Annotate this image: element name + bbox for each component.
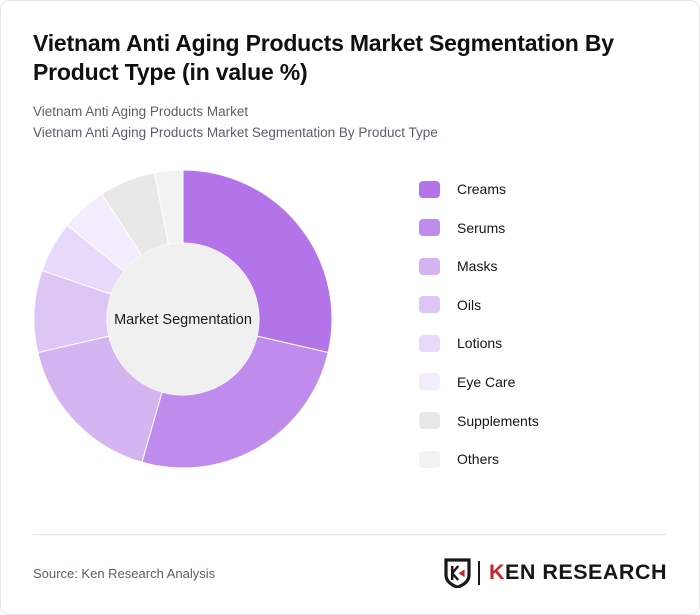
chart-legend: CreamsSerumsMasksOilsLotionsEye CareSupp… — [419, 170, 669, 479]
legend-swatch-serums — [419, 219, 440, 236]
legend-swatch-others — [419, 451, 440, 468]
chart-card: Vietnam Anti Aging Products Market Segme… — [0, 0, 700, 615]
subtitle-line-2: Vietnam Anti Aging Products Market Segme… — [33, 123, 667, 144]
legend-swatch-oils — [419, 296, 440, 313]
legend-item-oils[interactable]: Oils — [419, 286, 669, 325]
legend-label-serums: Serums — [457, 220, 505, 236]
legend-swatch-masks — [419, 258, 440, 275]
logo-word-accent: K — [489, 562, 505, 584]
page-title: Vietnam Anti Aging Products Market Segme… — [33, 29, 667, 88]
chart-header: Vietnam Anti Aging Products Market Segme… — [1, 1, 699, 144]
legend-label-oils: Oils — [457, 297, 481, 313]
legend-label-masks: Masks — [457, 258, 497, 274]
legend-swatch-eye-care — [419, 373, 440, 390]
donut-svg: Market Segmentation — [33, 160, 333, 470]
logo-rule — [478, 561, 480, 585]
donut-chart: Market Segmentation — [33, 160, 333, 460]
legend-item-masks[interactable]: Masks — [419, 247, 669, 286]
logo-wordmark: K EN RESEARCH — [489, 562, 667, 584]
legend-item-creams[interactable]: Creams — [419, 170, 669, 209]
donut-center-label: Market Segmentation — [114, 312, 252, 328]
shield-k-icon — [444, 558, 471, 588]
legend-label-eye-care: Eye Care — [457, 374, 515, 390]
legend-item-supplements[interactable]: Supplements — [419, 401, 669, 440]
source-note: Source: Ken Research Analysis — [33, 566, 215, 581]
legend-label-creams: Creams — [457, 181, 506, 197]
legend-swatch-lotions — [419, 335, 440, 352]
subtitle-line-1: Vietnam Anti Aging Products Market — [33, 102, 667, 123]
footer-divider — [33, 534, 667, 535]
subtitle-block: Vietnam Anti Aging Products Market Vietn… — [33, 102, 667, 144]
chart-footer: Source: Ken Research Analysis K EN RESEA… — [33, 557, 667, 589]
legend-item-others[interactable]: Others — [419, 440, 669, 479]
legend-item-serums[interactable]: Serums — [419, 208, 669, 247]
legend-swatch-supplements — [419, 412, 440, 429]
ken-research-logo: K EN RESEARCH — [444, 558, 667, 588]
legend-item-eye-care[interactable]: Eye Care — [419, 363, 669, 402]
logo-word-rest: EN RESEARCH — [505, 562, 667, 584]
chart-body: Market Segmentation CreamsSerumsMasksOil… — [1, 160, 699, 490]
legend-item-lotions[interactable]: Lotions — [419, 324, 669, 363]
legend-label-supplements: Supplements — [457, 413, 539, 429]
legend-label-others: Others — [457, 451, 499, 467]
legend-label-lotions: Lotions — [457, 335, 502, 351]
legend-swatch-creams — [419, 181, 440, 198]
